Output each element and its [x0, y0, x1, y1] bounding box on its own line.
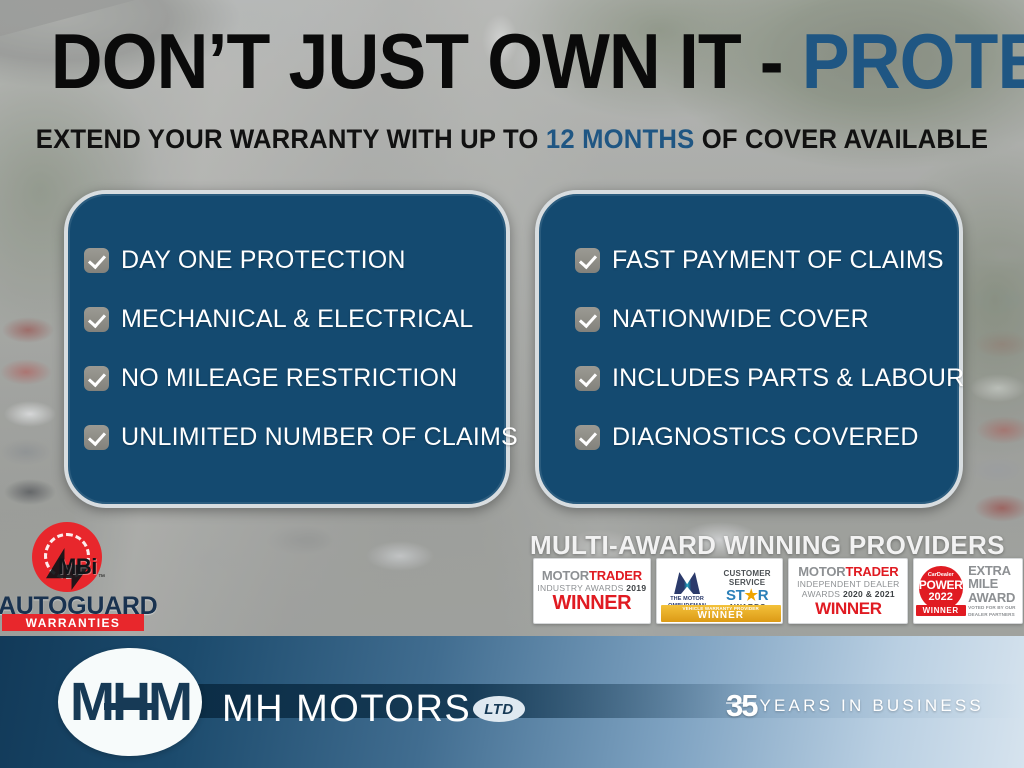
checkbox-checked-icon: [575, 248, 600, 273]
badge-subtitle: INDEPENDENT DEALER: [797, 579, 900, 589]
feature-label: DAY ONE PROTECTION: [121, 246, 406, 275]
feature-list-left: DAY ONE PROTECTION MECHANICAL & ELECTRIC…: [68, 194, 506, 504]
feature-label: FAST PAYMENT OF CLAIMS: [612, 246, 944, 275]
feature-label: NO MILEAGE RESTRICTION: [121, 364, 457, 393]
badge-year: 2020 & 2021: [843, 589, 895, 599]
autoguard-logo: MBi ™ AUTOGUARD WARRANTIES: [6, 522, 146, 630]
badge-ribbon: VEHICLE WARRANTY PROVIDER WINNER: [661, 605, 781, 622]
feature-label: INCLUDES PARTS & LABOUR: [612, 364, 964, 393]
ribbon-status: WINNER: [661, 611, 781, 621]
csa-r: R: [758, 587, 769, 604]
feature-label: UNLIMITED NUMBER OF CLAIMS: [121, 423, 518, 452]
power-year: 2022: [928, 592, 952, 603]
star-icon: ★: [745, 587, 758, 604]
power-label: POWER: [919, 579, 963, 592]
feature-item: NO MILEAGE RESTRICTION: [68, 364, 506, 393]
badge-brand: MOTORTRADER: [542, 569, 642, 583]
feature-item: UNLIMITED NUMBER OF CLAIMS: [68, 423, 506, 452]
csa-st: ST: [726, 587, 745, 604]
feature-list-right: FAST PAYMENT OF CLAIMS NATIONWIDE COVER …: [539, 194, 959, 504]
subheadline-part2: OF COVER AVAILABLE: [694, 124, 988, 154]
mhm-monogram: MHM: [70, 671, 190, 733]
power-circle-icon: CarDealer POWER 2022: [919, 566, 963, 610]
badge-subtitle-awards: AWARDS: [802, 589, 843, 599]
extra-mile-line-3: AWARD: [968, 591, 1015, 604]
feature-panel-right: FAST PAYMENT OF CLAIMS NATIONWIDE COVER …: [535, 190, 963, 508]
headline: DON’T JUST OWN IT - PROTECT IT: [0, 22, 1024, 100]
feature-item: FAST PAYMENT OF CLAIMS: [539, 246, 959, 275]
mh-motors-logo: MHM: [58, 648, 202, 756]
checkbox-checked-icon: [575, 425, 600, 450]
years-label: YEARS IN BUSINESS: [759, 696, 983, 716]
award-badge-motortrader-2019: MOTORTRADER INDUSTRY AWARDS 2019 WINNER: [533, 558, 651, 624]
award-badge-independent-dealer: MOTORTRADER INDEPENDENT DEALER AWARDS 20…: [788, 558, 908, 624]
badge-status: WINNER: [815, 600, 882, 617]
motor-ombudsman-icon: [674, 572, 700, 594]
awards-badge-row: MOTORTRADER INDUSTRY AWARDS 2019 WINNER …: [533, 558, 1023, 624]
checkbox-checked-icon: [84, 248, 109, 273]
extra-mile-sub-1: VOTED FOR BY OUR: [968, 605, 1015, 611]
award-badge-car-dealer-power: CarDealer POWER 2022 WINNER EXTRA MILE A…: [913, 558, 1023, 624]
company-suffix-badge: LTD: [473, 696, 525, 722]
feature-label: DIAGNOSTICS COVERED: [612, 423, 919, 452]
feature-item: INCLUDES PARTS & LABOUR: [539, 364, 959, 393]
company-suffix: LTD: [484, 701, 514, 718]
awards-title: MULTI-AWARD WINNING PROVIDERS: [530, 530, 1024, 561]
feature-item: MECHANICAL & ELECTRICAL: [68, 305, 506, 334]
award-badge-customer-service-star: THE MOTOR OMBUDSMAN CUSTOMER SERVICE ST★…: [656, 558, 784, 624]
badge-brand: MOTORTRADER: [798, 565, 898, 579]
headline-accent: PROTECT IT: [802, 17, 1024, 105]
csa-star-line: ST★R: [726, 588, 768, 603]
checkbox-checked-icon: [84, 366, 109, 391]
footer-bar: MHM MH MOTORS LTD 35 YEARS IN BUSINESS: [0, 636, 1024, 768]
autoguard-tagline-bar: WARRANTIES: [2, 614, 144, 631]
badge-brand-trader: TRADER: [589, 568, 642, 583]
extra-mile-line-2: MILE: [968, 577, 998, 590]
years-number: 35: [726, 690, 756, 721]
badge-subtitle-2: AWARDS 2020 & 2021: [802, 589, 895, 599]
feature-item: DIAGNOSTICS COVERED: [539, 423, 959, 452]
badge-brand-trader: TRADER: [845, 564, 898, 579]
autoguard-tagline: WARRANTIES: [26, 616, 121, 630]
checkbox-checked-icon: [84, 307, 109, 332]
extra-mile-sub-2: DEALER PARTNERS: [968, 612, 1015, 618]
checkbox-checked-icon: [575, 307, 600, 332]
subheadline-highlight: 12 MONTHS: [546, 124, 695, 154]
extra-mile-award-block: EXTRA MILE AWARD VOTED FOR BY OUR DEALER…: [968, 564, 1021, 618]
company-name: MH MOTORS: [222, 688, 471, 731]
autoguard-trademark: ™: [98, 574, 105, 581]
feature-panel-left: DAY ONE PROTECTION MECHANICAL & ELECTRIC…: [64, 190, 510, 508]
autoguard-mbi-mark: MBi: [58, 554, 97, 580]
power-status: WINNER: [916, 605, 966, 616]
badge-status: WINNER: [553, 593, 632, 613]
feature-item: DAY ONE PROTECTION: [68, 246, 506, 275]
subheadline: EXTEND YOUR WARRANTY WITH UP TO 12 MONTH…: [26, 124, 999, 155]
years-in-business: 35 YEARS IN BUSINESS: [726, 690, 984, 721]
headline-primary: DON’T JUST OWN IT -: [51, 17, 802, 105]
car-dealer-power-block: CarDealer POWER 2022 WINNER: [915, 566, 966, 616]
checkbox-checked-icon: [84, 425, 109, 450]
subheadline-part1: EXTEND YOUR WARRANTY WITH UP TO: [36, 124, 546, 154]
checkbox-checked-icon: [575, 366, 600, 391]
feature-label: MECHANICAL & ELECTRICAL: [121, 305, 473, 334]
feature-label: NATIONWIDE COVER: [612, 305, 869, 334]
extra-mile-line-1: EXTRA: [968, 564, 1011, 577]
feature-item: NATIONWIDE COVER: [539, 305, 959, 334]
badge-brand-motor: MOTOR: [542, 568, 589, 583]
badge-brand-motor: MOTOR: [798, 564, 845, 579]
warranty-advert: DON’T JUST OWN IT - PROTECT IT EXTEND YO…: [0, 0, 1024, 768]
